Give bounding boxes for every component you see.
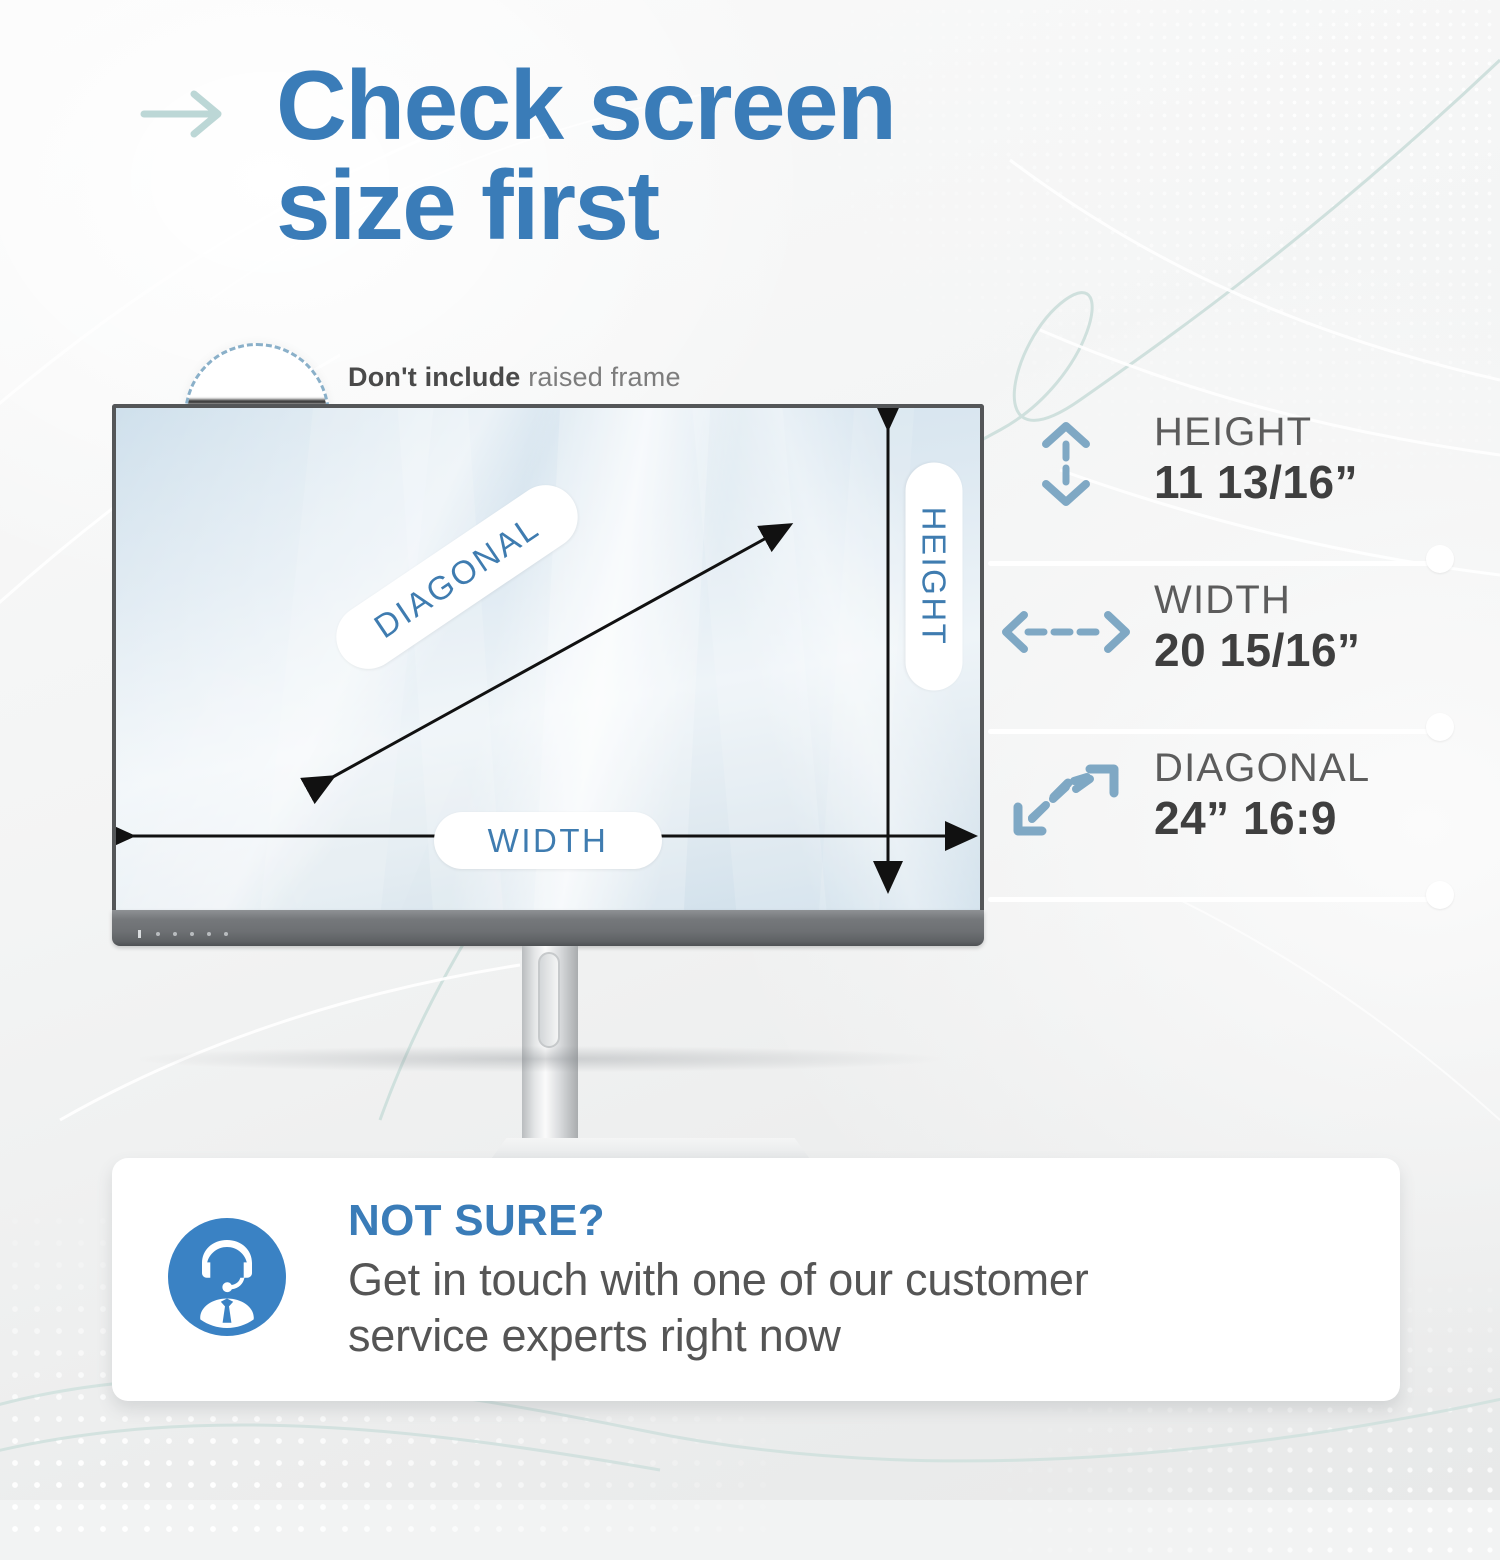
spec-divider <box>988 897 1448 902</box>
customer-service-card[interactable]: NOT SURE? Get in touch with one of our c… <box>112 1158 1400 1401</box>
spec-row-width: WIDTH 20 15/16” <box>988 572 1458 740</box>
page-header: Check screen size first <box>134 56 1134 256</box>
spec-label: HEIGHT <box>1154 410 1358 455</box>
spec-divider-dot <box>1426 713 1454 741</box>
cta-text: Get in touch with one of our customer se… <box>348 1252 1088 1364</box>
spec-label: WIDTH <box>1154 578 1361 623</box>
spec-divider <box>988 561 1448 566</box>
bezel-control-dots <box>156 932 228 936</box>
spec-divider <box>988 729 1448 734</box>
frame-note-rest: raised frame <box>521 362 681 392</box>
measurement-spec-list: HEIGHT 11 13/16” WIDTH 20 15/16” <box>988 404 1458 908</box>
monitor-drop-shadow <box>140 1046 940 1072</box>
monitor-bezel-bottom <box>112 910 984 946</box>
screen-label-width: WIDTH <box>434 812 662 869</box>
headset-support-icon <box>168 1218 286 1341</box>
spec-value: 11 13/16” <box>1154 455 1358 510</box>
vertical-double-arrow-icon <box>998 418 1134 510</box>
page-title: Check screen size first <box>276 56 1134 256</box>
spec-label: DIAGONAL <box>1154 746 1370 791</box>
horizontal-double-arrow-icon <box>998 586 1134 678</box>
cable-management-hole <box>538 952 560 1048</box>
cta-heading: NOT SURE? <box>348 1196 1088 1246</box>
spec-value: 24” 16:9 <box>1154 791 1370 846</box>
spec-value: 20 15/16” <box>1154 623 1361 678</box>
power-indicator-icon <box>138 930 141 938</box>
spec-row-diagonal: DIAGONAL 24” 16:9 <box>988 740 1458 908</box>
screen-label-height: HEIGHT <box>906 463 963 691</box>
spec-row-height: HEIGHT 11 13/16” <box>988 404 1458 572</box>
spec-divider-dot <box>1426 881 1454 909</box>
frame-note: Don't include raised frame <box>348 362 681 393</box>
frame-note-emphasis: Don't include <box>348 362 521 392</box>
diagonal-bracket-arrow-icon <box>998 754 1134 846</box>
arrow-right-icon <box>140 88 232 140</box>
spec-divider-dot <box>1426 545 1454 573</box>
